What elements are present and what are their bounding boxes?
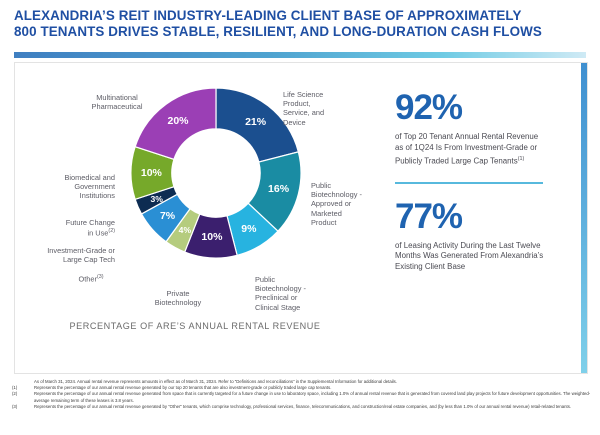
stat-number-77: 77% [395,198,575,236]
donut-value-label: 10% [141,167,162,179]
donut-value-label: 7% [160,210,175,222]
stats-divider [395,182,543,184]
footnote-row: (2)Represents the percentage of our annu… [12,391,592,403]
page-title-line-2: 800 TENANTS DRIVES STABLE, RESILIENT, AN… [14,24,586,40]
donut-value-label: 3% [150,194,162,204]
page-title-line-1: ALEXANDRIA’S REIT INDUSTRY-LEADING CLIEN… [14,8,586,24]
slice-label-other: Other(3) [63,273,119,284]
donut-chart-region: 21%16%9%10%4%7%3%10%20% Life Science Pro… [15,63,375,373]
donut-value-label: 9% [241,223,256,235]
footnote-text: Represents the percentage of our annual … [34,404,592,410]
page-title: ALEXANDRIA’S REIT INDUSTRY-LEADING CLIEN… [14,8,586,39]
donut-value-label: 10% [201,231,222,243]
slice-label-public-biotech-approved: Public Biotechnology - Approved or Marke… [311,181,362,227]
title-gradient-divider [14,52,586,58]
content-panel: 21%16%9%10%4%7%3%10%20% Life Science Pro… [14,62,588,374]
footnotes: As of March 31, 2024. Annual rental reve… [12,379,592,410]
donut-value-label: 4% [179,225,191,235]
stat-text-92: of Top 20 Tenant Annual Rental Revenue a… [395,132,547,167]
slice-label-multinational-pharmaceutical: Multinational Pharmaceutical [69,93,165,111]
slice-label-private-biotech: Private Biotechnology [135,289,221,307]
donut-value-label: 21% [245,116,266,128]
slice-label-public-biotech-preclinical: Public Biotechnology - Preclinical or Cl… [255,275,306,312]
footnote-ref-2: (2) [108,228,115,234]
chart-caption: PERCENTAGE OF ARE’S ANNUAL RENTAL REVENU… [15,321,375,331]
stat-block-77: 77% of Leasing Activity During the Last … [395,198,575,273]
footnote-row: (3)Represents the percentage of our annu… [12,404,592,410]
stat-text-77: of Leasing Activity During the Last Twel… [395,241,547,273]
slice-label-future-change-in-use: Future Change in Use(2) [25,218,115,238]
footnote-marker: (3) [12,404,34,410]
footnote-marker: (2) [12,391,34,403]
stat-block-92: 92% of Top 20 Tenant Annual Rental Reven… [395,89,575,167]
slice-label-biomedical-government: Biomedical and Government Institutions [19,173,115,201]
slice-label-investment-grade-tech: Investment-Grade or Large Cap Tech [11,246,115,264]
footnote-ref-3: (3) [97,274,104,280]
stat-number-92: 92% [395,89,575,127]
donut-value-label: 20% [168,115,189,127]
footnote-ref-1: (1) [518,156,525,162]
panel-accent-bar [581,63,587,373]
slice-label-life-science: Life Science Product, Service, and Devic… [283,90,324,127]
stats-panel: 92% of Top 20 Tenant Annual Rental Reven… [395,89,575,273]
footnote-text: Represents the percentage of our annual … [34,391,592,403]
donut-value-label: 16% [268,183,289,195]
